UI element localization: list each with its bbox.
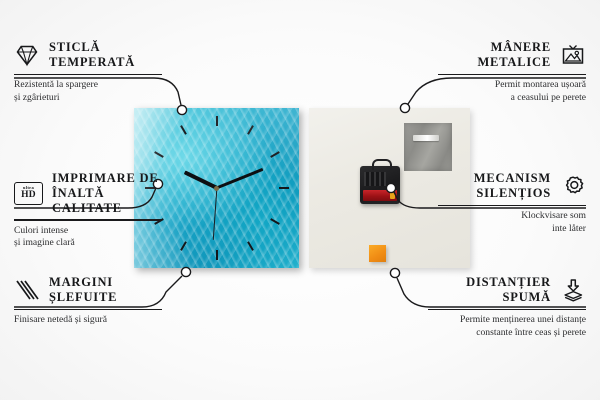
callout-rule [438, 205, 586, 207]
callout-head: MECANISM SILENȚIOS [438, 171, 586, 201]
callout-rule [438, 74, 586, 76]
callout-rule [428, 309, 586, 311]
ultra-hd-icon: ultra HD [14, 182, 43, 205]
callout-high-quality-print: ultra HD IMPRIMARE DE ÎNALTĂ CALITATE Cu… [14, 171, 162, 250]
product-infographic: STICLĂ TEMPERATĂ Rezistentă la spargere … [0, 0, 600, 400]
callout-subtitle: Rezistentă la spargere și zgârieturi [14, 79, 162, 104]
quartz-mechanism [360, 166, 400, 204]
clock-tick [247, 241, 254, 251]
foam-spacer [369, 245, 386, 262]
callout-subtitle: Finisare netedă și sigură [14, 314, 162, 326]
battery [363, 190, 397, 201]
clock-second-hand [212, 188, 217, 240]
picture-frame-icon [560, 43, 586, 67]
callout-title: IMPRIMARE DE ÎNALTĂ CALITATE [52, 171, 162, 215]
clock-tick [180, 125, 187, 135]
gear-icon [560, 174, 586, 198]
callout-title: DISTANȚIER SPUMĂ [466, 275, 551, 305]
clock-tick [154, 151, 164, 158]
callout-rule [14, 219, 162, 221]
hd-badge-bottom: HD [21, 191, 36, 201]
callout-polished-edges: MARGINI ȘLEFUITE Finisare netedă și sigu… [14, 275, 162, 327]
metal-hanger [404, 123, 452, 171]
callout-head: ultra HD IMPRIMARE DE ÎNALTĂ CALITATE [14, 171, 162, 215]
clock-tick [216, 116, 218, 126]
callout-title: MARGINI ȘLEFUITE [49, 275, 117, 305]
clock-minute-hand [216, 168, 263, 190]
leader-endpoint-edges [181, 267, 190, 276]
clock-hour-hand [183, 170, 217, 189]
hatch-lines-icon [14, 278, 40, 302]
callout-title: STICLĂ TEMPERATĂ [49, 40, 135, 70]
callout-rule [14, 74, 162, 76]
callout-head: STICLĂ TEMPERATĂ [14, 40, 162, 70]
callout-foam-spacer: DISTANȚIER SPUMĂ Permite menținerea unei… [428, 275, 586, 339]
clock-tick [279, 187, 289, 189]
callout-head: MÂNERE METALICE [438, 40, 586, 70]
leader-endpoint-spacer [390, 268, 399, 277]
clock-tick [270, 218, 280, 225]
callout-rule [14, 309, 162, 311]
clock-tick [216, 250, 218, 260]
product-photo-group [134, 108, 470, 268]
callout-subtitle: Permite menținerea unei distanțe constan… [428, 314, 586, 339]
clock-tick [180, 241, 187, 251]
callout-subtitle: Klockvisare som inte låter [438, 210, 586, 235]
callout-head: DISTANȚIER SPUMĂ [428, 275, 586, 305]
callout-title: MECANISM SILENȚIOS [474, 171, 551, 201]
callout-silent-mechanism: MECANISM SILENȚIOS Klockvisare som inte … [438, 171, 586, 235]
diamond-icon [14, 43, 40, 67]
clock-tick [270, 151, 280, 158]
callout-title: MÂNERE METALICE [477, 40, 551, 70]
hanger-slot [413, 135, 439, 141]
press-layers-icon [560, 278, 586, 302]
clock-center-cap [214, 186, 219, 191]
callout-head: MARGINI ȘLEFUITE [14, 275, 162, 305]
callout-subtitle: Culori intense și imagine clară [14, 225, 162, 250]
clock-tick [247, 125, 254, 135]
mechanism-label [364, 172, 386, 186]
callout-metal-handles: MÂNERE METALICE Permit montarea ușoară a… [438, 40, 586, 104]
callout-tempered-glass: STICLĂ TEMPERATĂ Rezistentă la spargere … [14, 40, 162, 104]
callout-subtitle: Permit montarea ușoară a ceasului pe per… [438, 79, 586, 104]
mechanism-hook [372, 159, 392, 170]
